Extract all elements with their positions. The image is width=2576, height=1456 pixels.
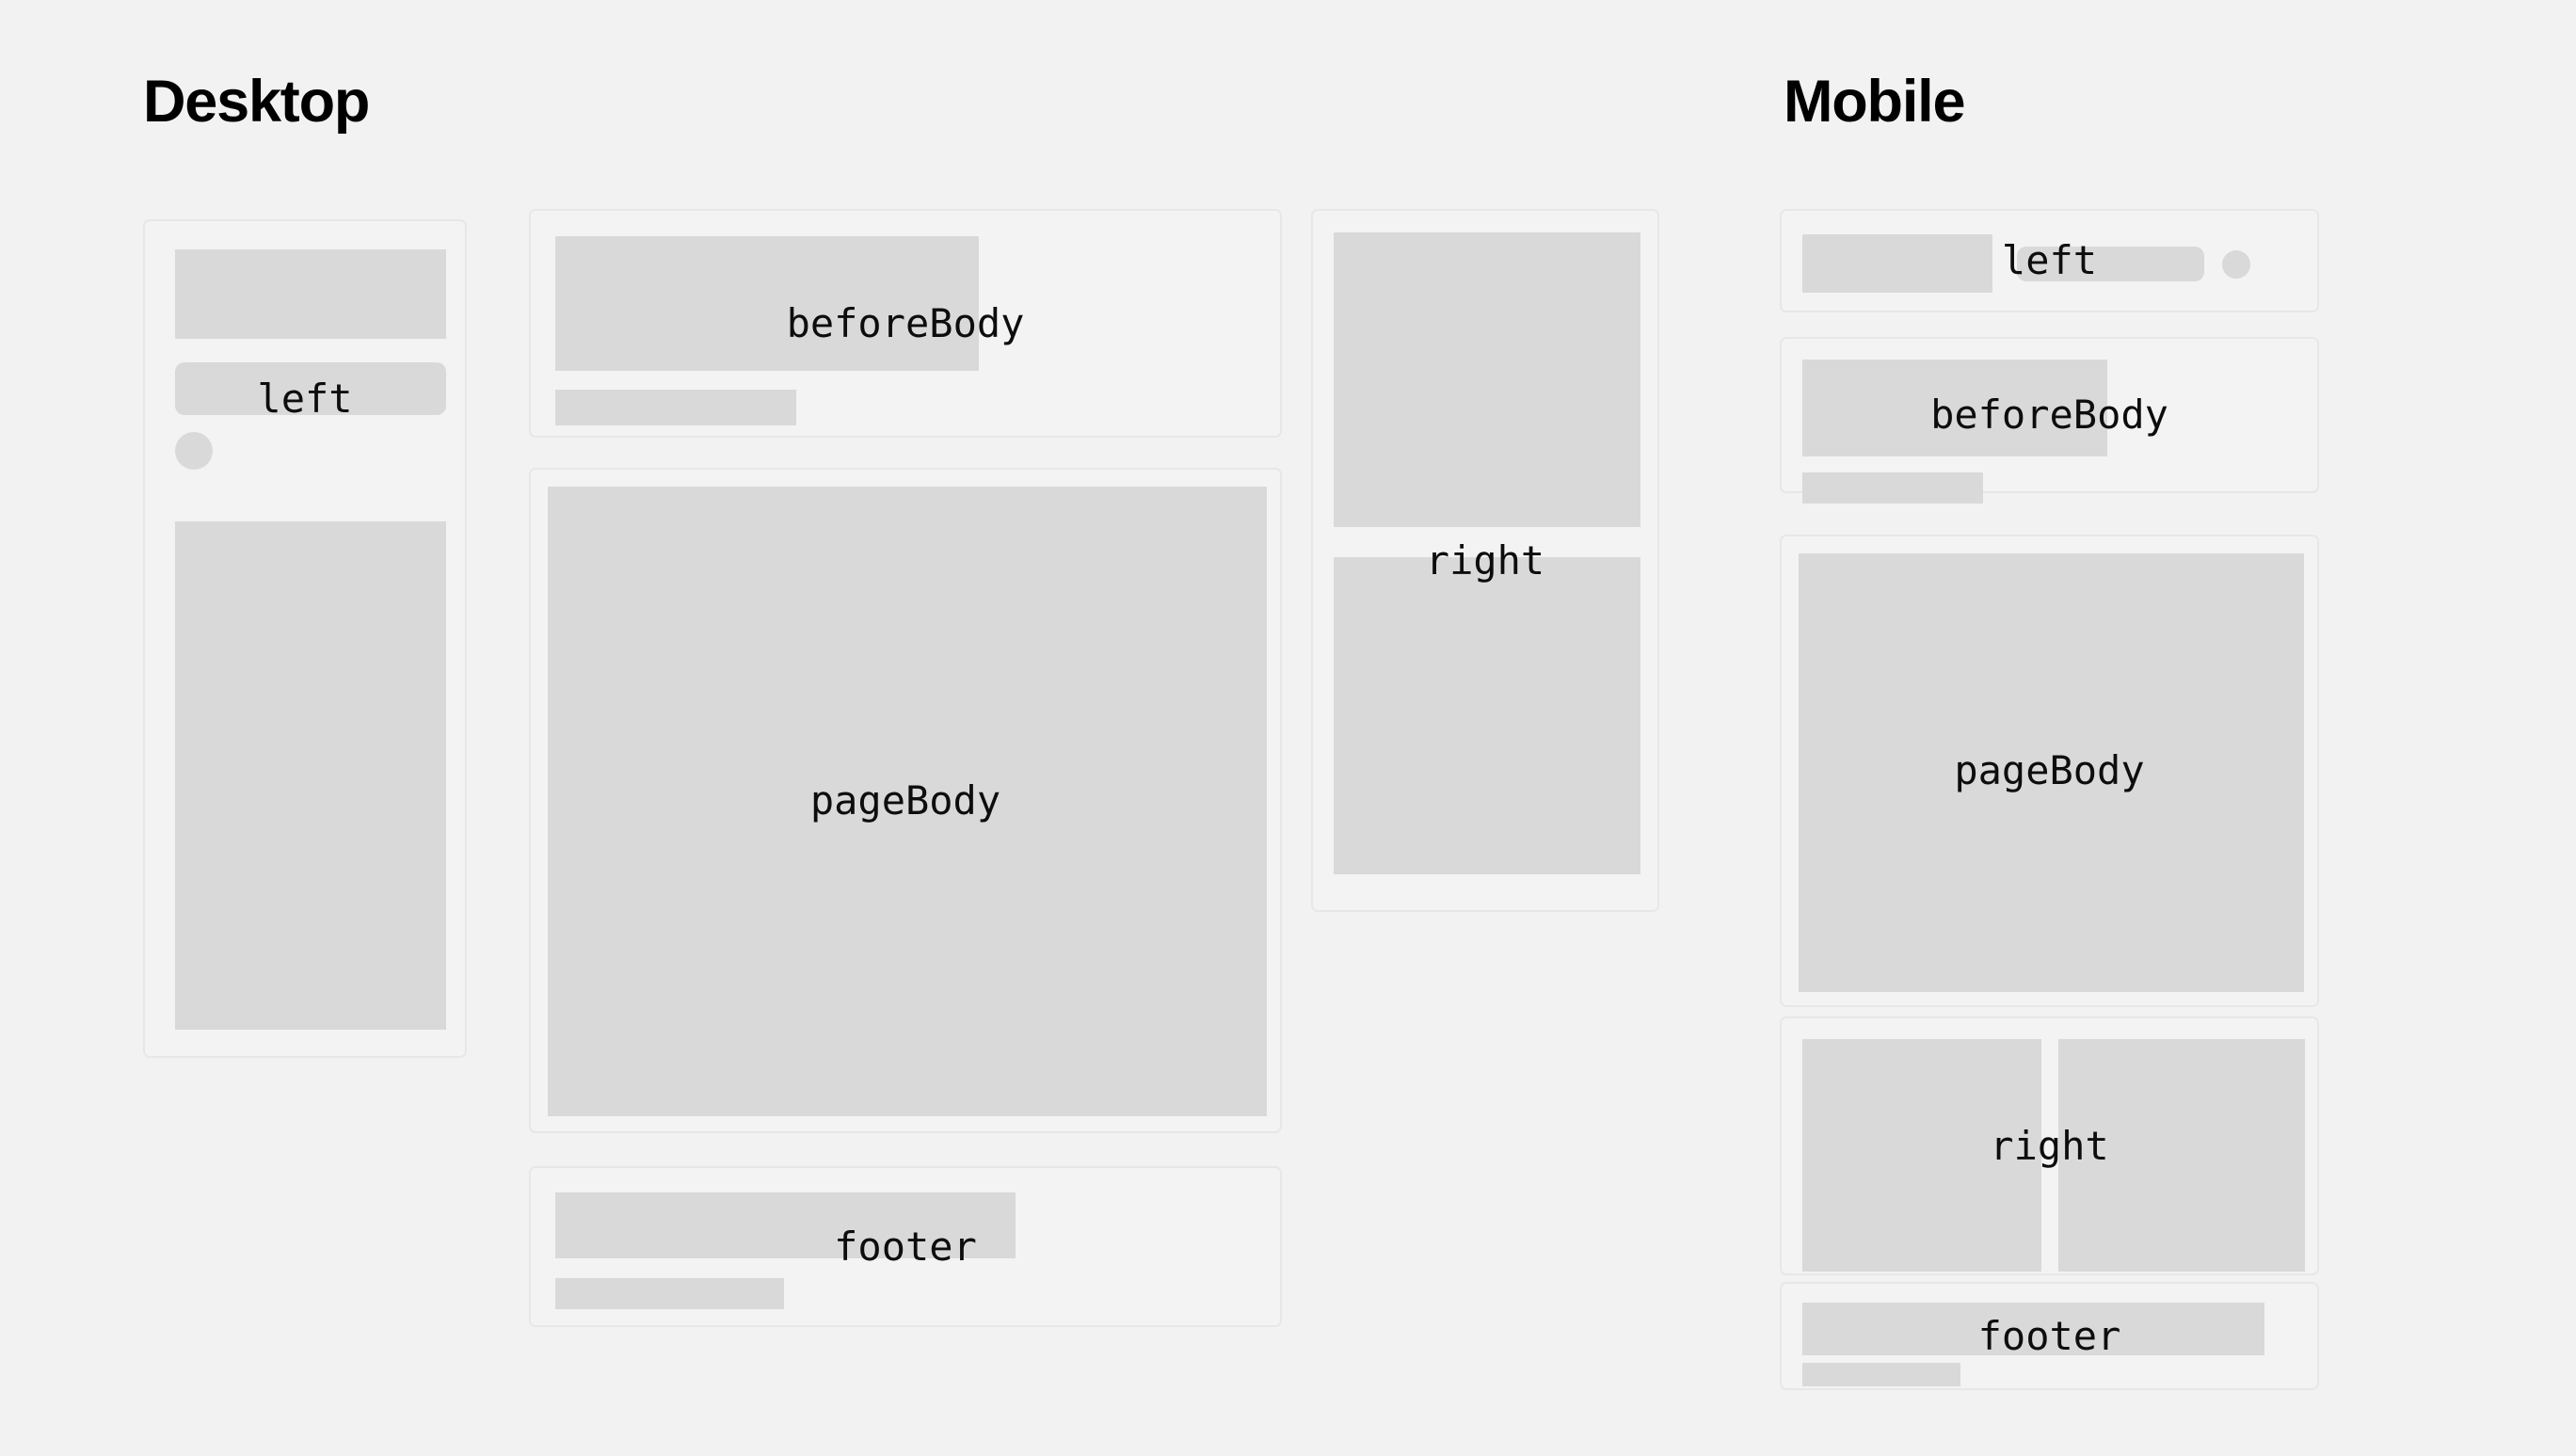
mobile-section-title: Mobile [1784, 72, 1964, 132]
skeleton-block-bar [2017, 247, 2204, 281]
desktop-section-title: Desktop [143, 72, 369, 132]
skeleton-block-avatar-circle [175, 432, 213, 470]
desktop-slot-footer-panel[interactable]: footer [529, 1166, 1282, 1327]
skeleton-block-bar [175, 362, 446, 415]
skeleton-block-small [1802, 472, 1983, 504]
skeleton-block-bottom [1334, 557, 1640, 874]
skeleton-block-top [1334, 232, 1640, 527]
skeleton-block-body-fill [548, 487, 1267, 1116]
skeleton-block-wide [1802, 1303, 2264, 1355]
mobile-slot-left-panel[interactable]: left [1780, 209, 2319, 312]
wireframe-canvas: Desktop left beforeBody pageBody right f… [0, 0, 2576, 1456]
skeleton-block-wide [555, 1192, 1016, 1258]
desktop-slot-left-panel[interactable]: left [143, 219, 467, 1058]
skeleton-block-avatar-circle [2222, 250, 2250, 279]
skeleton-block-small [1802, 1363, 1960, 1386]
skeleton-block-small [555, 390, 796, 425]
mobile-slot-before-body-panel[interactable]: beforeBody [1780, 337, 2319, 493]
mobile-slot-page-body-panel[interactable]: pageBody [1780, 535, 2319, 1007]
mobile-slot-right-panel[interactable]: right [1780, 1016, 2319, 1275]
skeleton-block-header [175, 249, 446, 339]
desktop-slot-page-body-panel[interactable]: pageBody [529, 468, 1282, 1133]
desktop-slot-before-body-panel[interactable]: beforeBody [529, 209, 1282, 438]
skeleton-block-large [1802, 360, 2107, 456]
skeleton-block-large [555, 236, 979, 371]
skeleton-block-right-column [2058, 1039, 2305, 1272]
skeleton-block-nav-panel [175, 521, 446, 1030]
desktop-slot-right-panel[interactable]: right [1311, 209, 1659, 912]
skeleton-block-left-column [1802, 1039, 2041, 1272]
skeleton-block-body-fill [1799, 553, 2304, 992]
mobile-slot-footer-panel[interactable]: footer [1780, 1282, 2319, 1390]
skeleton-block-small [555, 1278, 784, 1309]
skeleton-block-logo [1802, 234, 1992, 293]
